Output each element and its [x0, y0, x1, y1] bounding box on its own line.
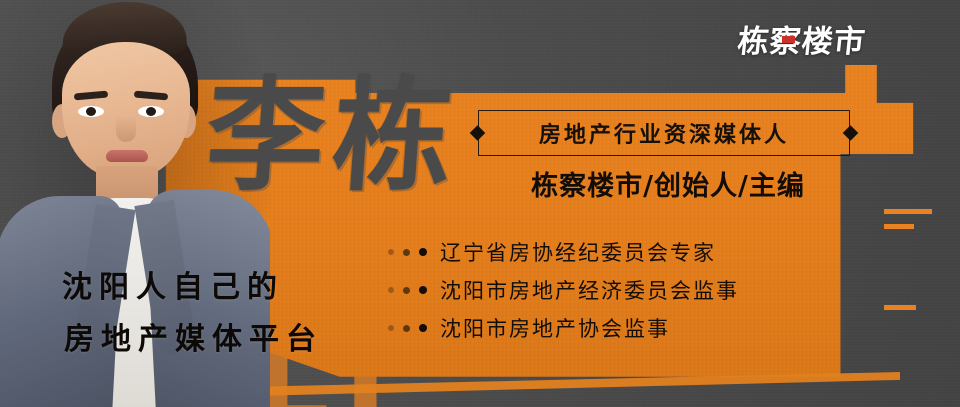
portrait-nose	[116, 116, 136, 142]
list-item: 沈阳市房地产协会监事	[388, 312, 739, 344]
triple-dot-marker-icon	[388, 286, 440, 294]
promo-banner: LI DONG 李栋 房地产行业资深媒体人	[0, 0, 960, 407]
decorative-tick-1	[884, 209, 932, 214]
decorative-tick-3	[884, 305, 916, 310]
list-item: 辽宁省房协经纪委员会专家	[388, 236, 739, 268]
credential-text: 沈阳市房地产协会监事	[440, 313, 670, 343]
headline-container: 房地产行业资深媒体人	[478, 110, 850, 156]
brand-logo-text: 栋察楼市	[736, 16, 869, 61]
triple-dot-marker-icon	[388, 248, 440, 256]
credential-text: 沈阳市房地产经济委员会监事	[440, 275, 739, 305]
slogan-line-2: 房地产媒体平台	[64, 314, 323, 366]
portrait-mouth	[106, 150, 148, 162]
triple-dot-marker-icon	[388, 324, 440, 332]
portrait-eye-right	[138, 106, 164, 117]
credentials-list: 辽宁省房协经纪委员会专家 沈阳市房地产经济委员会监事 沈阳市房地产协会监事	[388, 236, 739, 350]
slogan-text: 沈阳人自己的 房地产媒体平台	[62, 262, 323, 366]
brand-logo-accent-icon	[782, 36, 795, 43]
slogan-line-1: 沈阳人自己的	[62, 270, 284, 305]
headline-text: 房地产行业资深媒体人	[478, 117, 850, 149]
brand-logo: 栋察楼市	[738, 16, 866, 61]
decorative-tick-2	[884, 224, 914, 229]
name-calligraphy: 李栋	[201, 62, 465, 217]
list-item: 沈阳市房地产经济委员会监事	[388, 274, 739, 306]
subtitle-text: 栋察楼市/创始人/主编	[478, 164, 858, 203]
portrait-eye-left	[78, 106, 104, 117]
credential-text: 辽宁省房协经纪委员会专家	[440, 237, 716, 267]
